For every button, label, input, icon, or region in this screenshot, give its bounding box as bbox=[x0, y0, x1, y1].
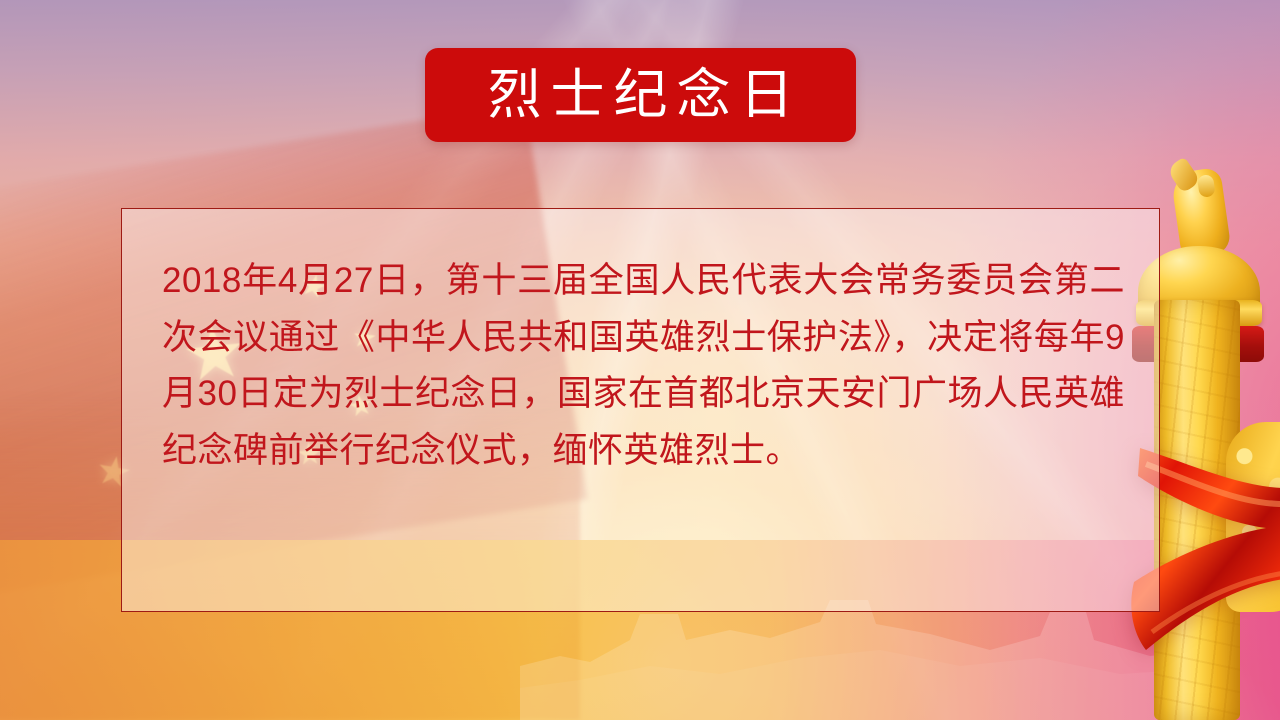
title-badge: 烈士纪念日 bbox=[425, 48, 856, 142]
body-paragraph: 2018年4月27日，第十三届全国人民代表大会常务委员会第二次会议通过《中华人民… bbox=[162, 253, 1125, 480]
content-panel: 2018年4月27日，第十三届全国人民代表大会常务委员会第二次会议通过《中华人民… bbox=[121, 208, 1160, 612]
slide-canvas: ★ ★ ★ ★ ★ ★ bbox=[0, 0, 1280, 720]
page-title: 烈士纪念日 bbox=[479, 68, 803, 122]
